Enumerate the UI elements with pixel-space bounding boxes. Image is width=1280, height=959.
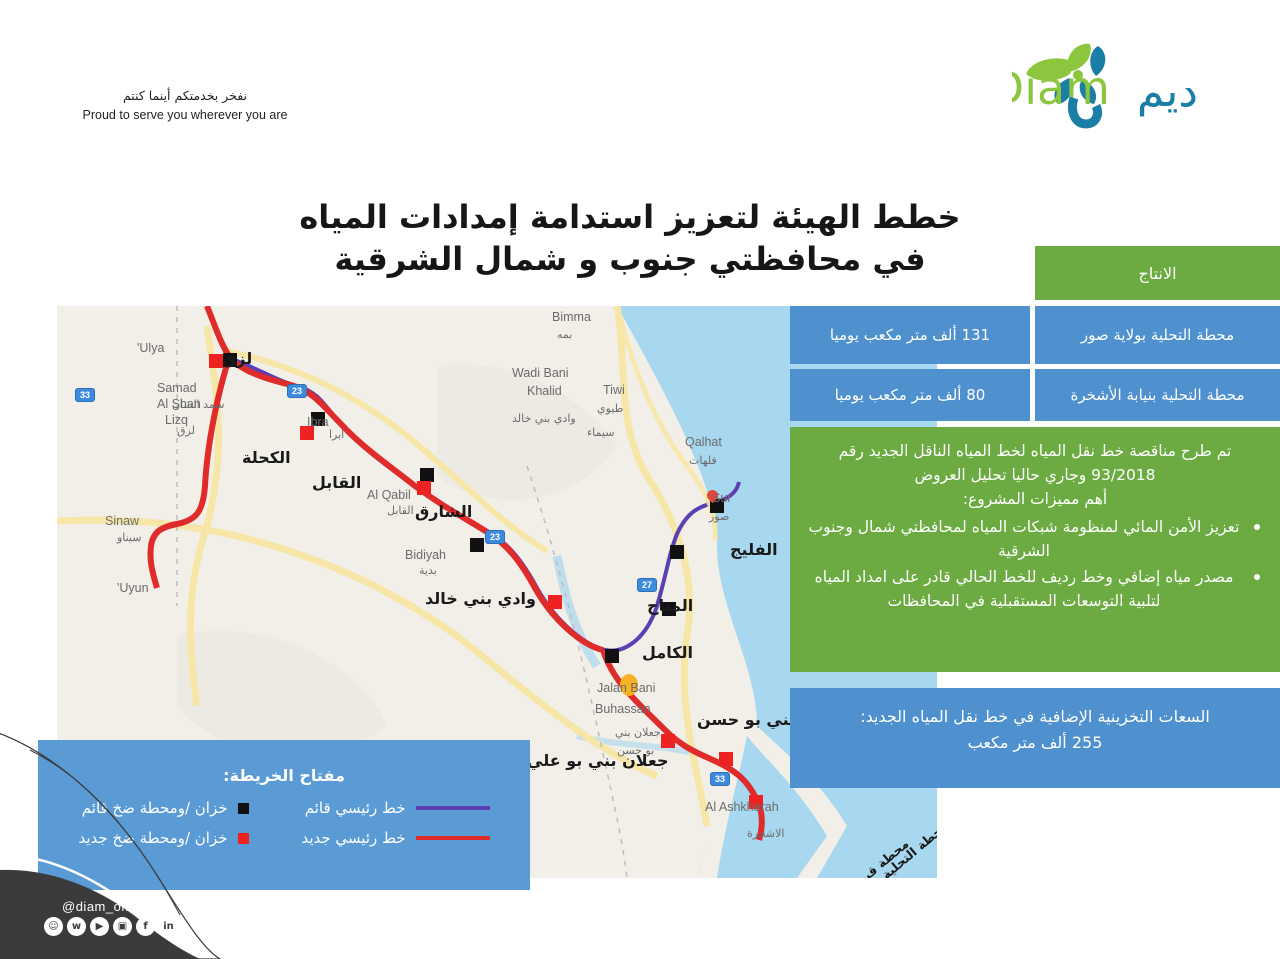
facebook-icon[interactable]: f	[136, 917, 155, 936]
map-marker-existing[interactable]	[662, 602, 676, 616]
plant-name-sur: محطة التحلية بولاية صور	[1081, 326, 1234, 344]
map-marker-new[interactable]	[548, 595, 562, 609]
project-feature-item: تعزيز الأمن المائي لمنظومة شبكات المياه …	[806, 515, 1264, 563]
highway-shield-icon: 23	[287, 384, 307, 398]
map-marker-existing[interactable]	[605, 649, 619, 663]
project-feature-text: تعزيز الأمن المائي لمنظومة شبكات المياه …	[809, 518, 1240, 560]
legend-item-existing-line: خط رئيسي قائم	[301, 799, 489, 817]
legend-item-new-line: خط رئيسي جديد	[301, 829, 489, 847]
plant-capacity-ashkharah: 80 ألف متر مكعب يوميا	[835, 386, 986, 404]
project-feature-list: تعزيز الأمن المائي لمنظومة شبكات المياه …	[806, 515, 1264, 613]
storage-line-2: 255 ألف متر مكعب	[806, 730, 1264, 756]
map-marker-new[interactable]	[209, 354, 223, 368]
production-row-value-1: 80 ألف متر مكعب يوميا	[790, 369, 1030, 421]
project-feature-item: مصدر مياه إضافي وخط رديف للخط الحالي قاد…	[806, 565, 1264, 613]
map-marker-existing[interactable]	[223, 353, 237, 367]
slide-root: نفخر بخدمتكم أينما كنتم Proud to serve y…	[0, 0, 1280, 959]
page-title-line-1: خطط الهيئة لتعزيز استدامة إمدادات المياه	[270, 196, 990, 238]
storage-capacity-box: السعات التخزينية الإضافية في خط نقل المي…	[790, 688, 1280, 788]
map-marker-existing[interactable]	[470, 538, 484, 552]
logo-arabic-text: ديم	[1137, 66, 1198, 117]
social-handle: @diam_om	[62, 899, 133, 914]
tagline-arabic: نفخر بخدمتكم أينما كنتم	[70, 88, 300, 103]
map-pin-jalan[interactable]	[620, 674, 638, 696]
snapchat-icon[interactable]: ☺	[44, 917, 63, 936]
production-row-name-0: محطة التحلية بولاية صور	[1035, 306, 1280, 364]
bullet-icon	[1254, 574, 1260, 580]
project-details-box: تم طرح مناقصة خط نقل المياه لخط المياه ا…	[790, 427, 1280, 672]
highway-shield-icon: 23	[485, 530, 505, 544]
production-row-value-0: 131 ألف متر مكعب يوميا	[790, 306, 1030, 364]
map-marker-new[interactable]	[417, 481, 431, 495]
plant-capacity-sur: 131 ألف متر مكعب يوميا	[830, 326, 990, 344]
production-table-header: الانتاج	[1035, 246, 1280, 300]
page-title-line-2: في محافظتي جنوب و شمال الشرقية	[270, 238, 990, 280]
youtube-icon[interactable]: ▶	[90, 917, 109, 936]
map-marker-existing[interactable]	[311, 412, 325, 426]
diam-logo-graphic: Diam ديم	[1012, 26, 1262, 146]
linkedin-icon[interactable]: in	[159, 917, 178, 936]
map-marker-existing[interactable]	[670, 545, 684, 559]
line-swatch-new-icon	[416, 836, 490, 840]
map-marker-new[interactable]	[661, 734, 675, 748]
legend-column-lines: خط رئيسي قائم خط رئيسي جديد	[301, 799, 489, 847]
map-marker-existing[interactable]	[420, 468, 434, 482]
legend-label: خط رئيسي جديد	[301, 829, 405, 847]
map-marker-new[interactable]	[300, 426, 314, 440]
tagline-english: Proud to serve you wherever you are	[70, 108, 300, 122]
instagram-icon[interactable]: ▣	[113, 917, 132, 936]
map-marker-new[interactable]	[749, 795, 763, 809]
tagline-block: نفخر بخدمتكم أينما كنتم Proud to serve y…	[70, 88, 300, 122]
highway-shield-icon: 33	[75, 388, 95, 402]
features-label: أهم مميزات المشروع:	[806, 487, 1264, 511]
social-icons: ☺ w ▶ ▣ f in	[44, 917, 178, 936]
highway-shield-icon: 33	[710, 772, 730, 786]
highway-shield-icon: 27	[637, 578, 657, 592]
page-title: خطط الهيئة لتعزيز استدامة إمدادات المياه…	[270, 196, 990, 280]
diam-logo: Diam ديم	[1012, 26, 1262, 146]
production-header-label: الانتاج	[1138, 264, 1176, 283]
twitter-icon[interactable]: w	[67, 917, 86, 936]
plant-name-ashkharah: محطة التحلية بنيابة الأشخرة	[1071, 386, 1245, 404]
map-marker-new[interactable]	[719, 752, 733, 766]
tender-line-2: 93/2018 وجاري حاليا تحليل العروض	[806, 463, 1264, 487]
line-swatch-existing-icon	[416, 806, 490, 810]
legend-label: خط رئيسي قائم	[305, 799, 406, 817]
storage-line-1: السعات التخزينية الإضافية في خط نقل المي…	[806, 704, 1264, 730]
bullet-icon	[1254, 524, 1260, 530]
production-row-name-1: محطة التحلية بنيابة الأشخرة	[1035, 369, 1280, 421]
project-feature-text: مصدر مياه إضافي وخط رديف للخط الحالي قاد…	[815, 568, 1234, 610]
tender-line-1: تم طرح مناقصة خط نقل المياه لخط المياه ا…	[806, 439, 1264, 463]
